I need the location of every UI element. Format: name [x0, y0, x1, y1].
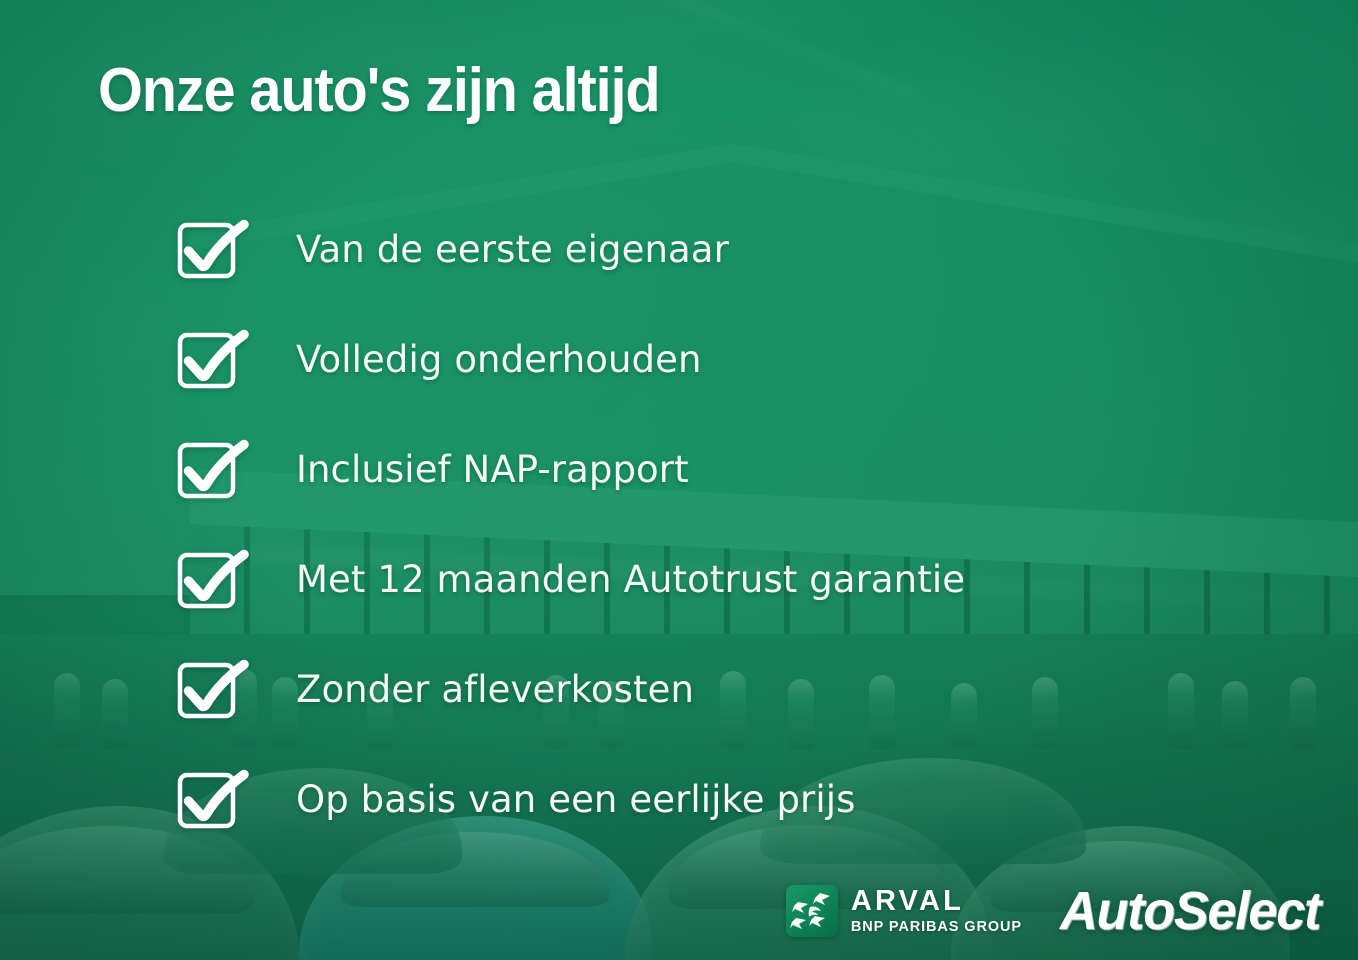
list-item: Op basis van een eerlijke prijs — [178, 744, 965, 854]
checkbox-checked-icon — [178, 441, 236, 497]
benefits-checklist: Van de eerste eigenaar Volledig onderhou… — [178, 194, 965, 854]
list-item: Inclusief NAP-rapport — [178, 414, 965, 524]
arval-name: ARVAL — [851, 887, 1022, 916]
list-item-label: Zonder afleverkosten — [296, 668, 694, 711]
banner-content: Onze auto's zijn altijd Van de eerste ei… — [0, 0, 1358, 960]
autoselect-logo: AutoSelect — [1060, 880, 1320, 942]
list-item-label: Volledig onderhouden — [296, 338, 702, 381]
bnp-paribas-stars-icon — [786, 885, 838, 937]
list-item-label: Met 12 maanden Autotrust garantie — [296, 558, 965, 601]
promotional-banner: Onze auto's zijn altijd Van de eerste ei… — [0, 0, 1358, 960]
arval-wordmark: ARVAL BNP PARIBAS GROUP — [851, 887, 1022, 935]
checkbox-checked-icon — [178, 221, 236, 277]
list-item: Zonder afleverkosten — [178, 634, 965, 744]
list-item: Van de eerste eigenaar — [178, 194, 965, 304]
list-item-label: Inclusief NAP-rapport — [296, 448, 689, 491]
list-item: Volledig onderhouden — [178, 304, 965, 414]
logo-bar: ARVAL BNP PARIBAS GROUP AutoSelect — [786, 880, 1320, 942]
page-title: Onze auto's zijn altijd — [98, 58, 660, 123]
list-item: Met 12 maanden Autotrust garantie — [178, 524, 965, 634]
checkbox-checked-icon — [178, 661, 236, 717]
checkbox-checked-icon — [178, 331, 236, 387]
arval-tagline: BNP PARIBAS GROUP — [851, 920, 1022, 935]
list-item-label: Op basis van een eerlijke prijs — [296, 778, 856, 821]
checkbox-checked-icon — [178, 771, 236, 827]
arval-logo: ARVAL BNP PARIBAS GROUP — [786, 885, 1022, 937]
checkbox-checked-icon — [178, 551, 236, 607]
list-item-label: Van de eerste eigenaar — [296, 228, 729, 271]
